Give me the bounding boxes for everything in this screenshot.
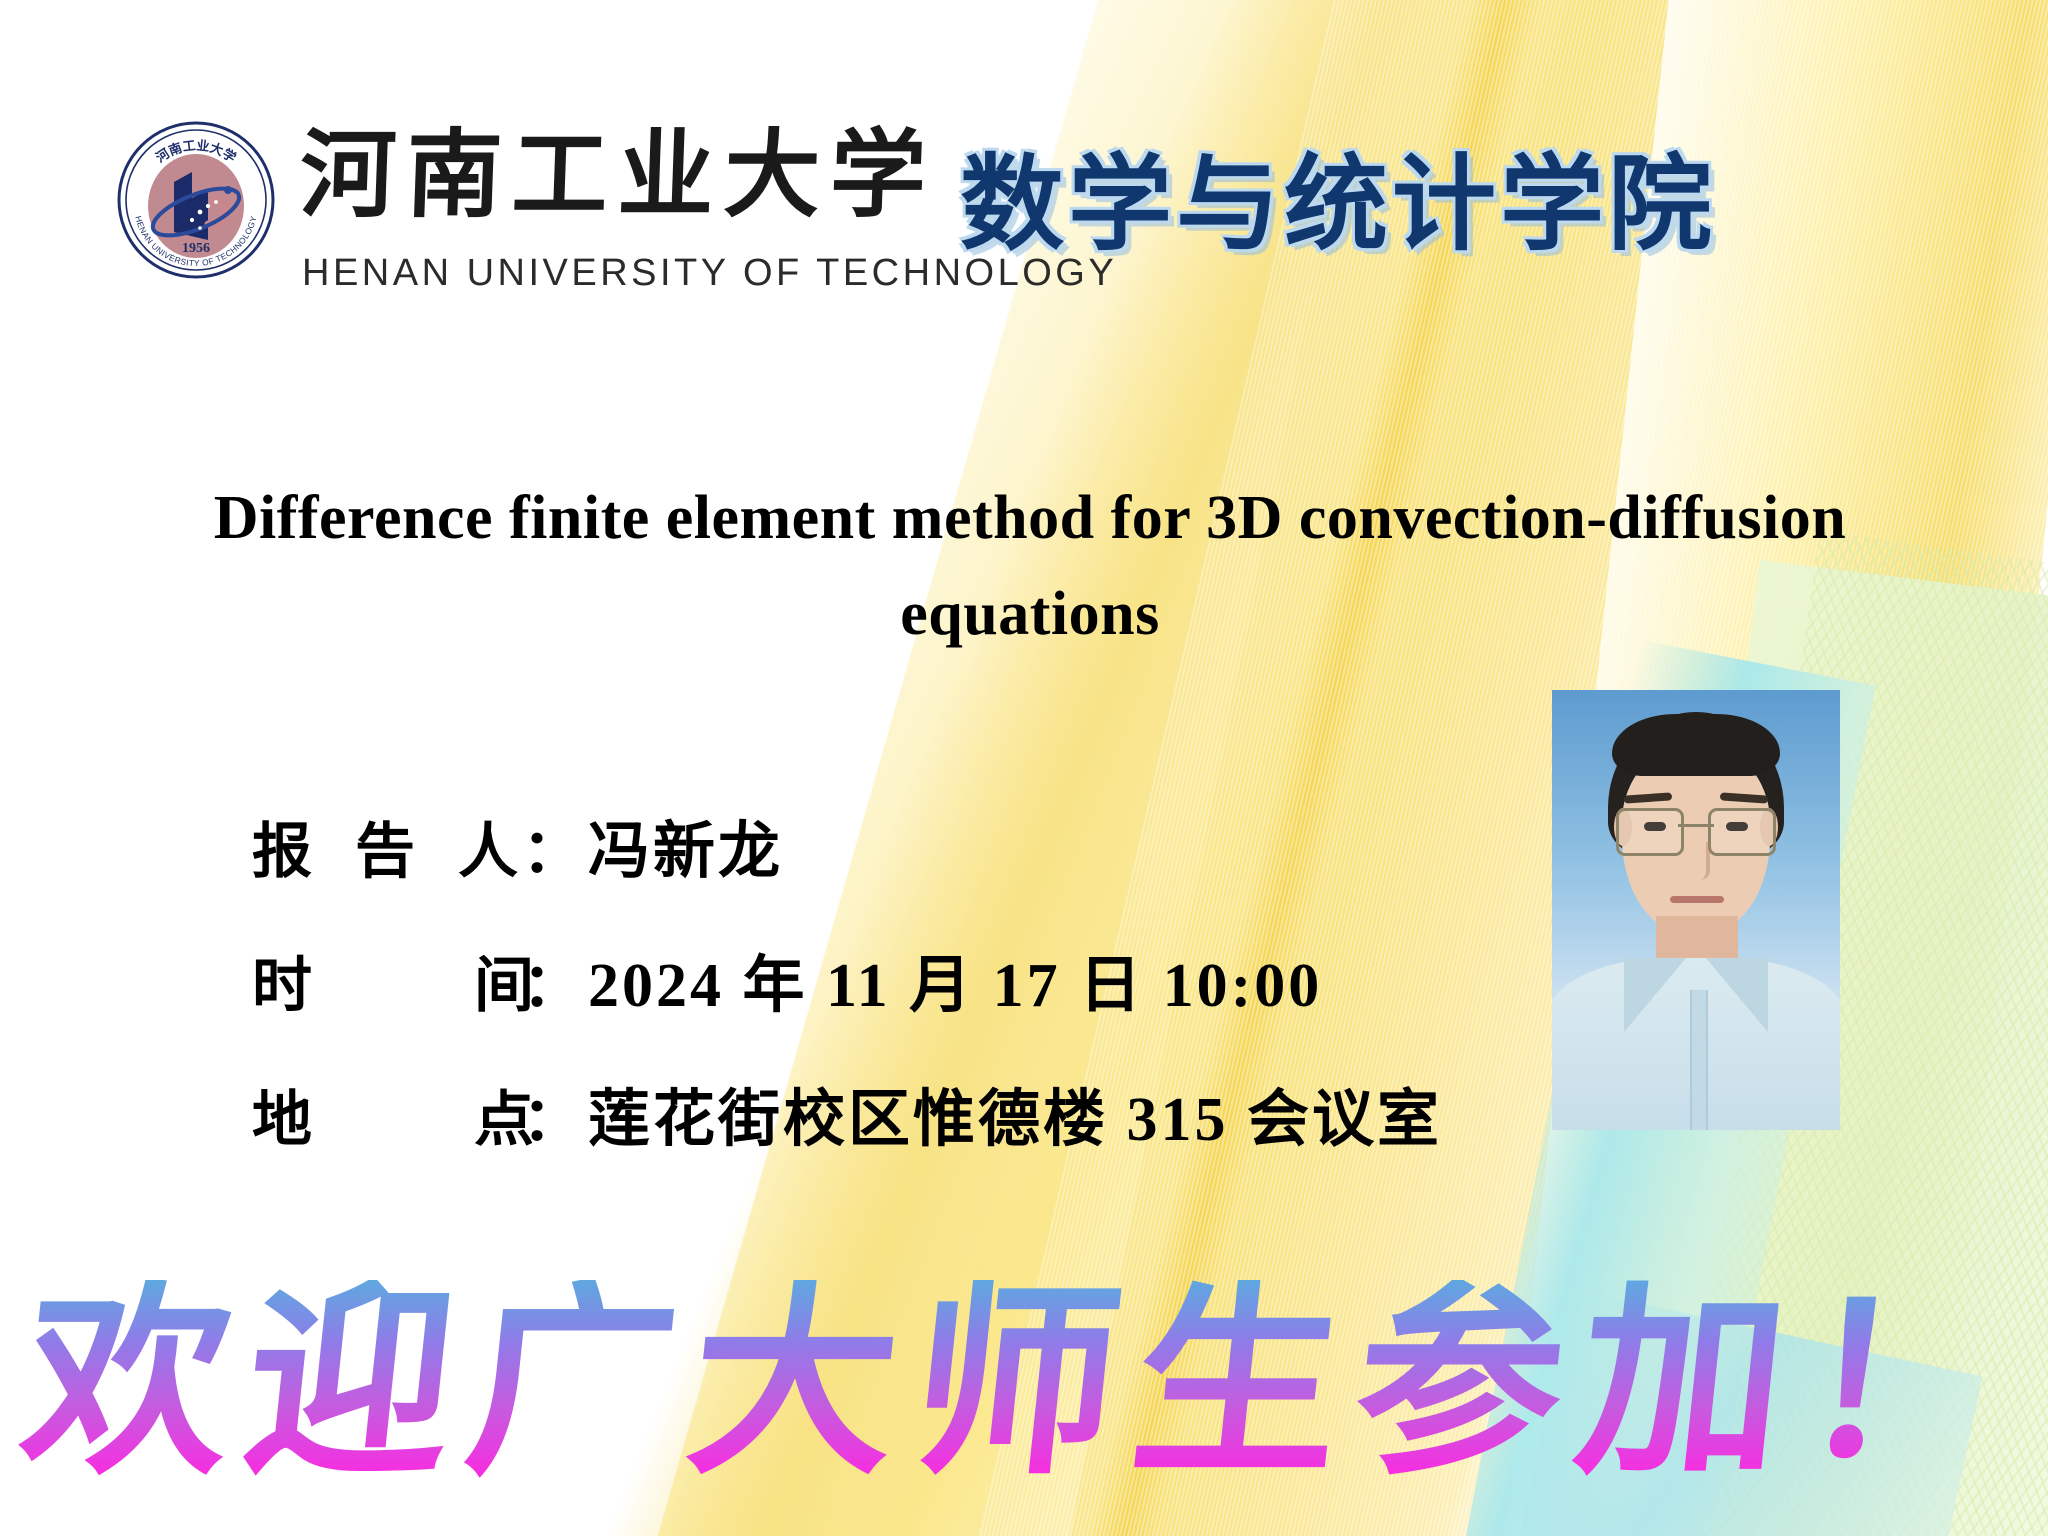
- talk-title: Difference finite element method for 3D …: [150, 470, 1910, 662]
- portrait-collar-left: [1624, 958, 1686, 1032]
- detail-row-location: 地 点 ： 莲花街校区惟德楼 315 会议室: [252, 1068, 1442, 1158]
- svg-text:1956: 1956: [182, 241, 210, 256]
- detail-value-speaker: 冯新龙: [588, 800, 783, 890]
- detail-row-speaker: 报 告 人 ： 冯新龙: [252, 800, 1442, 890]
- glasses-lens-right: [1708, 808, 1776, 856]
- seminar-poster: 1956 河南工业大学 HENAN UNIVERSITY OF TECHNOLO…: [0, 0, 2048, 1536]
- detail-label-time: 时 间: [252, 937, 522, 1024]
- portrait-mouth: [1670, 896, 1724, 903]
- portrait-shirt-placket: [1690, 990, 1708, 1130]
- portrait-fringe: [1612, 714, 1780, 776]
- poster-header: 1956 河南工业大学 HENAN UNIVERSITY OF TECHNOLO…: [0, 0, 2048, 320]
- glasses-lens-left: [1616, 808, 1684, 856]
- detail-value-location: 莲花街校区惟德楼 315 会议室: [588, 1068, 1442, 1158]
- talk-details: 报 告 人 ： 冯新龙 时 间 ： 2024 年 11 月 17 日 10:00…: [252, 800, 1442, 1202]
- detail-label-speaker: 报 告 人: [252, 803, 522, 890]
- detail-colon-speaker: ：: [522, 803, 582, 890]
- university-seal-icon: 1956 河南工业大学 HENAN UNIVERSITY OF TECHNOLO…: [116, 120, 276, 280]
- portrait-collar-right: [1706, 958, 1768, 1032]
- college-name: 数学与统计学院: [960, 148, 1716, 262]
- glasses-bridge: [1678, 824, 1714, 827]
- detail-colon-time: ：: [522, 937, 582, 1024]
- detail-value-time: 2024 年 11 月 17 日 10:00: [588, 934, 1322, 1024]
- detail-row-time: 时 间 ： 2024 年 11 月 17 日 10:00: [252, 934, 1442, 1024]
- welcome-message: 欢迎广大师生参加！: [0, 1280, 2048, 1486]
- detail-colon-location: ：: [522, 1071, 582, 1158]
- university-name-cn: 河南工业大学: [298, 128, 937, 224]
- detail-label-location: 地 点: [252, 1071, 522, 1158]
- speaker-photo: [1552, 690, 1840, 1130]
- portrait-nose: [1688, 842, 1710, 880]
